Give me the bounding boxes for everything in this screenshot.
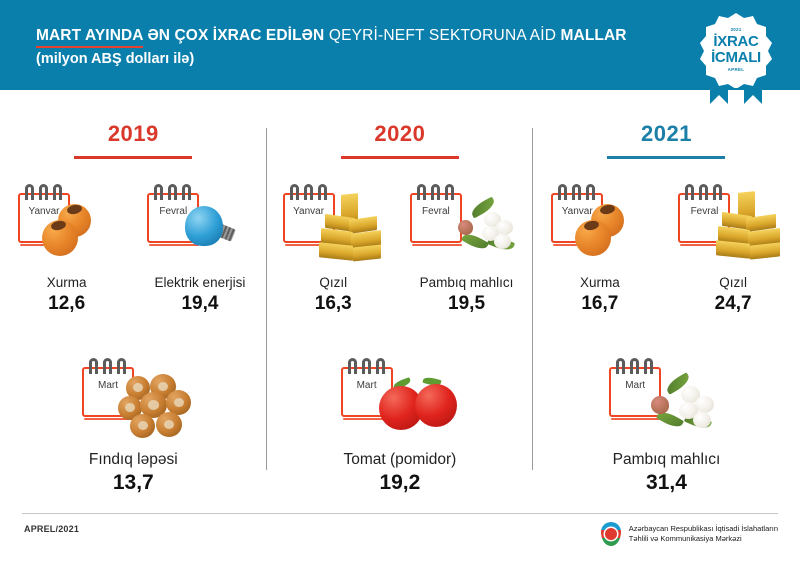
product-name: Xurma [533, 275, 666, 290]
product-name: Xurma [0, 275, 133, 290]
hazelnut-icon [118, 372, 196, 438]
hazelnut [130, 414, 155, 438]
product-value: 16,3 [267, 293, 400, 315]
calendar-ring [154, 184, 163, 200]
title-part-bold-1b: ƏN ÇOX İXRAC EDİLƏN [147, 27, 324, 44]
badge-line-1: İXRAC [713, 34, 758, 49]
cotton-icon [641, 368, 725, 440]
gold-bars-icon [714, 192, 784, 264]
header-title-block: MART AYINDA ƏN ÇOX İXRAC EDİLƏN QEYRİ-NE… [36, 27, 627, 67]
product-name: Elektrik enerjisi [133, 275, 266, 290]
item-2021-fevral: Fevral Qızıl 24,7 [666, 176, 799, 321]
title-part-underlined: MART AYINDA [36, 27, 143, 48]
brand-text: Azərbaycan Respublikası İqtisadi İslahat… [629, 524, 778, 544]
icon-box-lightbulb: Fevral [133, 176, 266, 274]
row-top-2020: Yanvar Qızıl 16,3 [267, 176, 534, 321]
ixrac-icmali-badge: 2021 İXRAC İCMALI APREL [690, 8, 782, 112]
calendar-ring [362, 358, 371, 374]
tomato [415, 384, 457, 427]
calendar-ring [558, 184, 567, 200]
gold-bar [319, 242, 353, 261]
icon-box-tomato: Mart [267, 350, 534, 450]
badge-year-text: 2021 [731, 28, 742, 33]
calendar-ring [572, 184, 581, 200]
brand-line-2: Təhlili və Kommunikasiya Mərkəzi [629, 534, 778, 544]
product-value: 19,5 [400, 293, 533, 315]
cotton-icon [448, 194, 524, 264]
calendar-ring [417, 184, 426, 200]
cotton-petal [494, 234, 511, 249]
bulb-glass [185, 206, 223, 246]
footer-brand: Azərbaycan Respublikası İqtisadi İslahat… [600, 521, 778, 547]
product-value: 19,2 [267, 471, 534, 495]
product-value: 24,7 [666, 293, 799, 315]
badge-line-2: İCMALI [711, 50, 761, 65]
product-value: 13,7 [0, 471, 267, 495]
icon-box-hazelnut: Mart [0, 350, 267, 450]
title-part-light: QEYRİ-NEFT SEKTORUNA AİD [329, 27, 556, 44]
calendar-ring [168, 184, 177, 200]
year-rule-2021 [607, 156, 725, 159]
calendar-ring [586, 184, 595, 200]
column-2021: 2021 Yanvar [533, 118, 800, 483]
azerbaijan-emblem-icon [600, 521, 622, 547]
cotton-petal [695, 396, 714, 413]
icon-box-gold: Fevral [666, 176, 799, 274]
calendar-ring [431, 184, 440, 200]
year-label-2021: 2021 [533, 121, 800, 147]
badge-label-block: 2021 İXRAC İCMALI APREL [698, 12, 774, 88]
calendar-ring [630, 358, 639, 374]
row-bottom-2021: Mart Pambıq mahlıcı 31,4 [533, 350, 800, 495]
product-name: Pambıq mahlıcı [400, 275, 533, 290]
product-value: 19,4 [133, 293, 266, 315]
brand-line-1: Azərbaycan Respublikası İqtisadi İslahat… [629, 524, 778, 534]
row-bottom-2019: Mart Fındıq ləpəsi 13,7 [0, 350, 267, 495]
cotton-bud [458, 220, 473, 235]
tomato-icon [375, 372, 467, 438]
item-2020-yanvar: Yanvar Qızıl 16,3 [267, 176, 400, 321]
calendar-ring [616, 358, 625, 374]
calendar-ring [25, 184, 34, 200]
calendar-ring [182, 184, 191, 200]
gold-bar [353, 245, 381, 262]
calendar-ring [304, 184, 313, 200]
calendar-ring [290, 184, 299, 200]
calendar-ring [348, 358, 357, 374]
calendar-ring [89, 358, 98, 374]
product-name: Pambıq mahlıcı [533, 451, 800, 469]
calendar-ring [699, 184, 708, 200]
persimmon-icon [42, 220, 78, 256]
product-name: Fındıq ləpəsi [0, 451, 267, 469]
icon-box-cotton: Mart [533, 350, 800, 450]
calendar-ring [103, 358, 112, 374]
lightbulb-icon [183, 202, 243, 250]
gold-bar [750, 242, 780, 259]
emblem-star [605, 528, 617, 540]
page-subtitle: (milyon ABŞ dolları ilə) [36, 51, 627, 67]
year-rule-2019 [74, 156, 192, 159]
year-rule-2020 [341, 156, 459, 159]
calendar-ring [39, 184, 48, 200]
hazelnut [156, 412, 182, 437]
item-2019-yanvar: Yanvar Xurma 12,6 [0, 176, 133, 321]
item-2020-fevral: Fevral Pambıq mahlıc [400, 176, 533, 321]
badge-month-text: APREL [728, 68, 745, 73]
item-2019-fevral: Fevral Elektrik enerjisi 19,4 [133, 176, 266, 321]
row-top-2019: Yanvar Xurma 12,6 [0, 176, 267, 321]
product-name: Tomat (pomidor) [267, 451, 534, 469]
page-title: MART AYINDA ƏN ÇOX İXRAC EDİLƏN QEYRİ-NE… [36, 27, 627, 44]
cotton-bud [651, 396, 669, 414]
column-2020: 2020 Yanvar [267, 118, 534, 483]
column-2019: 2019 Yanvar [0, 118, 267, 483]
product-name: Qızıl [267, 275, 400, 290]
calendar-ring [53, 184, 62, 200]
gold-bar [716, 240, 750, 259]
calendar-ring [685, 184, 694, 200]
header-band: MART AYINDA ƏN ÇOX İXRAC EDİLƏN QEYRİ-NE… [0, 0, 800, 90]
icon-box-cotton: Fevral [400, 176, 533, 274]
icon-box-persimmon: Yanvar [0, 176, 133, 274]
year-label-2020: 2020 [267, 121, 534, 147]
footer-divider [22, 513, 778, 514]
icon-box-gold: Yanvar [267, 176, 400, 274]
title-part-bold-2: MALLAR [561, 27, 627, 44]
icon-box-persimmon: Yanvar [533, 176, 666, 274]
year-columns: 2019 Yanvar [0, 118, 800, 483]
year-label-2019: 2019 [0, 121, 267, 147]
item-2021-yanvar: Yanvar Xurma 16,7 [533, 176, 666, 321]
gold-bars-icon [319, 194, 385, 264]
persimmon-icon [575, 220, 611, 256]
product-value: 12,6 [0, 293, 133, 315]
infographic-page: MART AYINDA ƏN ÇOX İXRAC EDİLƏN QEYRİ-NE… [0, 0, 800, 566]
footer-date: APREL/2021 [24, 524, 79, 534]
product-value: 31,4 [533, 471, 800, 495]
product-name: Qızıl [666, 275, 799, 290]
product-value: 16,7 [533, 293, 666, 315]
row-top-2021: Yanvar Xurma 16,7 [533, 176, 800, 321]
row-bottom-2020: Mart Tomat (pomidor) 19,2 [267, 350, 534, 495]
